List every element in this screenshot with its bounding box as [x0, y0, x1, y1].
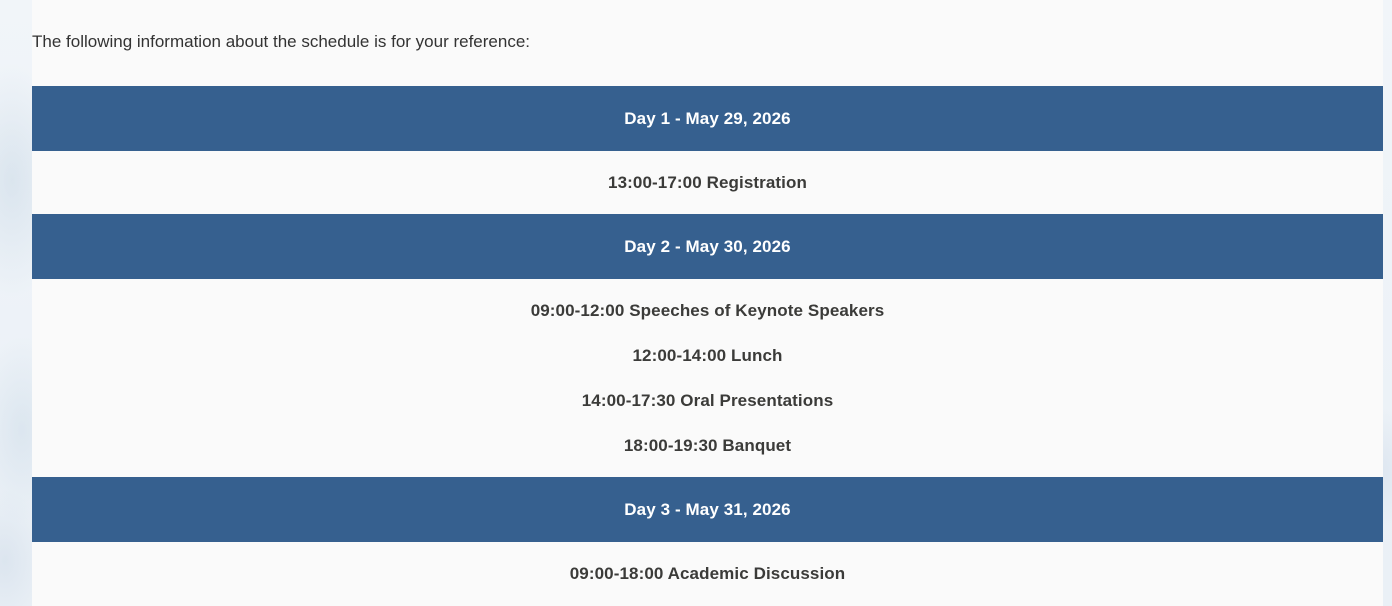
day-items: 09:00-12:00 Speeches of Keynote Speakers…	[32, 279, 1383, 477]
schedule-item: 18:00-19:30 Banquet	[32, 423, 1383, 468]
day-block: Day 2 - May 30, 2026 09:00-12:00 Speeche…	[32, 214, 1383, 477]
schedule-item: 14:00-17:30 Oral Presentations	[32, 378, 1383, 423]
schedule-item: 09:00-18:00 Academic Discussion	[32, 551, 1383, 596]
schedule-item: 09:00-12:00 Speeches of Keynote Speakers	[32, 288, 1383, 333]
intro-paragraph: The following information about the sche…	[32, 31, 530, 53]
day-header: Day 1 - May 29, 2026	[32, 86, 1383, 151]
schedule-item: 13:00-17:00 Registration	[32, 160, 1383, 205]
schedule-item: 12:00-14:00 Lunch	[32, 333, 1383, 378]
day-block: Day 3 - May 31, 2026 09:00-18:00 Academi…	[32, 477, 1383, 605]
day-items: 09:00-18:00 Academic Discussion	[32, 542, 1383, 605]
day-header: Day 3 - May 31, 2026	[32, 477, 1383, 542]
day-items: 13:00-17:00 Registration	[32, 151, 1383, 214]
day-block: Day 1 - May 29, 2026 13:00-17:00 Registr…	[32, 86, 1383, 214]
schedule-table: Day 1 - May 29, 2026 13:00-17:00 Registr…	[32, 86, 1383, 605]
day-header: Day 2 - May 30, 2026	[32, 214, 1383, 279]
